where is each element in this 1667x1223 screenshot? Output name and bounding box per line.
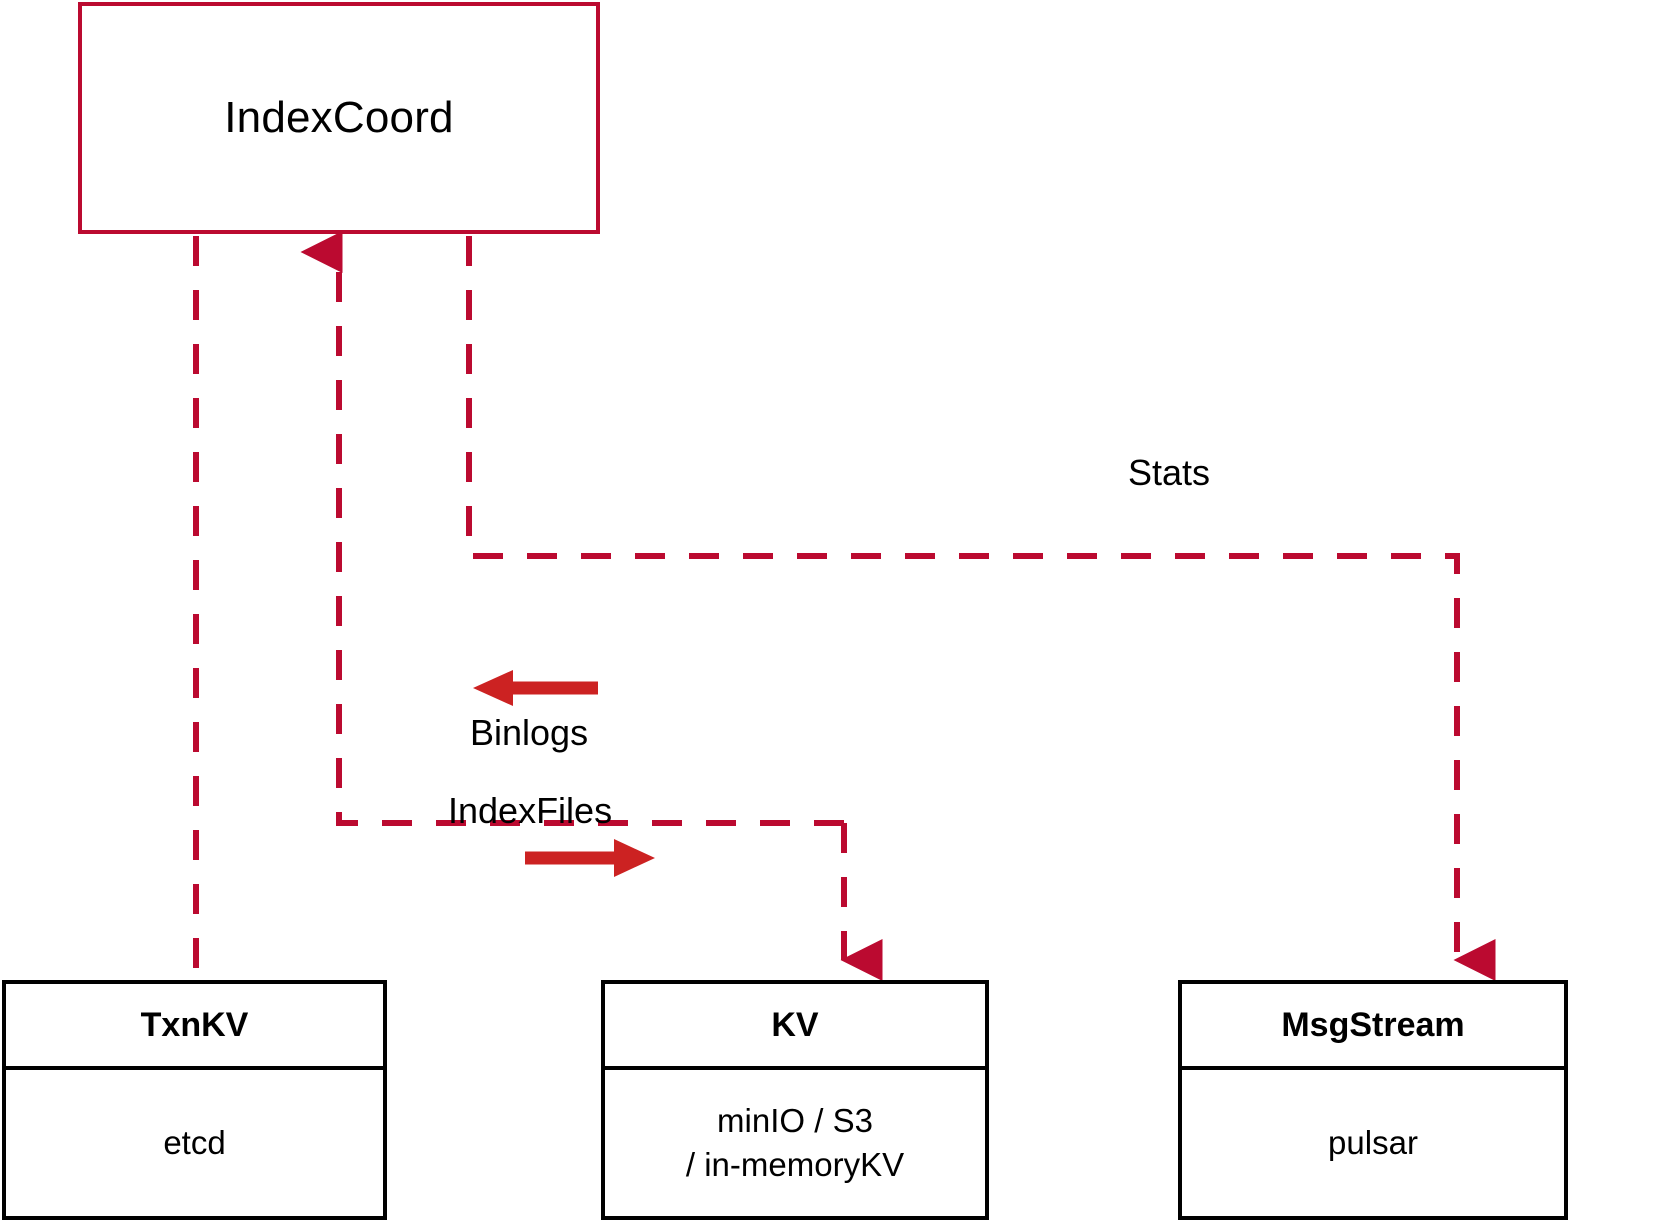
- edge-indexcoord-msgstream: [469, 236, 1457, 960]
- kv-impl-line-1: minIO / S3: [717, 1099, 873, 1143]
- txnkv-impl-line: etcd: [163, 1121, 225, 1165]
- edge-label-indexfiles: IndexFiles: [448, 793, 612, 829]
- node-txnkv[interactable]: TxnKV etcd: [2, 980, 387, 1220]
- kv-body: minIO / S3 / in-memoryKV: [605, 1070, 985, 1216]
- msgstream-header: MsgStream: [1182, 984, 1564, 1070]
- diagram-canvas: IndexCoord TxnKV etcd KV minIO / S3 / in…: [0, 0, 1667, 1223]
- node-kv[interactable]: KV minIO / S3 / in-memoryKV: [601, 980, 989, 1220]
- kv-impl-line-2: / in-memoryKV: [686, 1143, 904, 1187]
- edge-kv-indexcoord: [339, 252, 844, 823]
- txnkv-body: etcd: [6, 1070, 383, 1216]
- txnkv-header: TxnKV: [6, 984, 383, 1070]
- msgstream-body: pulsar: [1182, 1070, 1564, 1216]
- node-indexcoord[interactable]: IndexCoord: [78, 2, 600, 234]
- kv-header: KV: [605, 984, 985, 1070]
- edge-label-stats: Stats: [1128, 455, 1210, 491]
- edge-label-binlogs: Binlogs: [470, 715, 588, 751]
- msgstream-impl-line: pulsar: [1328, 1121, 1418, 1165]
- indexcoord-title: IndexCoord: [224, 94, 453, 142]
- binlogs-arrow-icon: [473, 670, 598, 706]
- indexfiles-arrow-icon: [525, 839, 655, 877]
- node-msgstream[interactable]: MsgStream pulsar: [1178, 980, 1568, 1220]
